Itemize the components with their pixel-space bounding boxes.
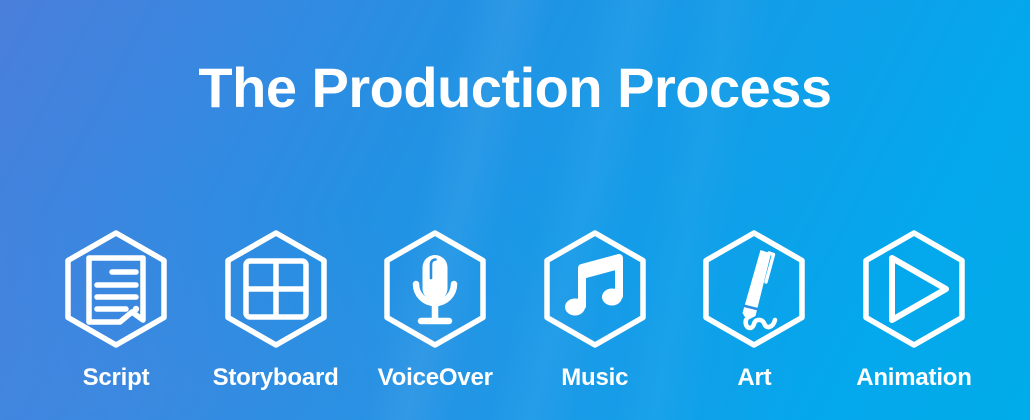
process-step-music[interactable]: Music xyxy=(519,228,671,392)
step-label-storyboard: Storyboard xyxy=(213,364,339,392)
step-label-animation: Animation xyxy=(856,364,972,392)
animation-icon-badge xyxy=(854,228,974,350)
production-process-banner: The Production Process Script xyxy=(0,0,1030,420)
process-step-art[interactable]: Art xyxy=(678,228,830,392)
document-script-icon xyxy=(56,228,176,350)
page-title: The Production Process xyxy=(0,58,1030,118)
music-note-icon xyxy=(535,228,655,350)
step-label-music: Music xyxy=(561,364,628,392)
process-step-list: Script Storyboard xyxy=(40,228,990,392)
step-label-voiceover: VoiceOver xyxy=(378,364,493,392)
process-step-script[interactable]: Script xyxy=(40,228,192,392)
process-step-animation[interactable]: Animation xyxy=(838,228,990,392)
microphone-icon xyxy=(375,228,495,350)
pen-icon xyxy=(694,228,814,350)
process-step-storyboard[interactable]: Storyboard xyxy=(200,228,352,392)
music-icon-badge xyxy=(535,228,655,350)
play-triangle-icon xyxy=(854,228,974,350)
storyboard-icon-badge xyxy=(216,228,336,350)
step-label-art: Art xyxy=(737,364,771,392)
voiceover-icon-badge xyxy=(375,228,495,350)
script-icon-badge xyxy=(56,228,176,350)
step-label-script: Script xyxy=(83,364,150,392)
art-icon-badge xyxy=(694,228,814,350)
grid-storyboard-icon xyxy=(216,228,336,350)
process-step-voiceover[interactable]: VoiceOver xyxy=(359,228,511,392)
